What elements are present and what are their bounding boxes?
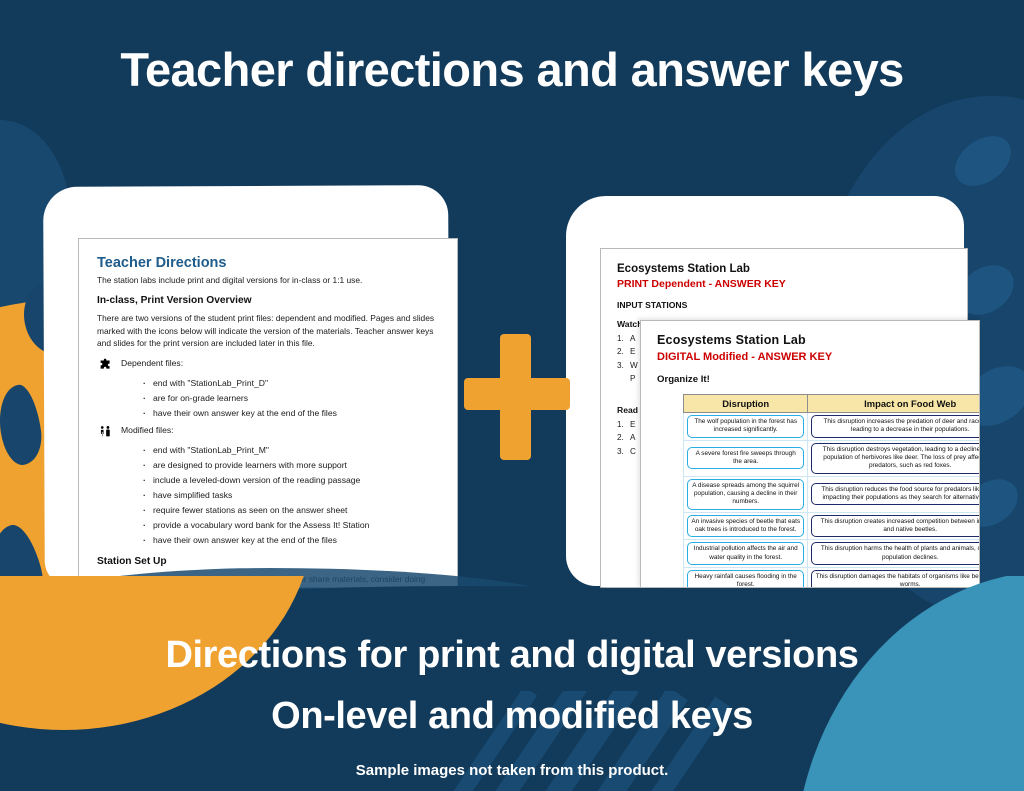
- teacher-directions-document[interactable]: Teacher Directions The station labs incl…: [78, 238, 458, 588]
- table-row: Industrial pollution affects the air and…: [684, 540, 981, 568]
- impact-cell: This disruption destroys vegetation, lea…: [811, 443, 980, 474]
- impact-cell: This disruption reduces the food source …: [811, 483, 980, 506]
- doc-title: Teacher Directions: [97, 255, 441, 271]
- list-item: have their own answer key at the end of …: [143, 533, 441, 548]
- dependent-files-bullets: end with "StationLab_Print_D" are for on…: [143, 376, 441, 421]
- modified-files-bullets: end with "StationLab_Print_M" are design…: [143, 443, 441, 548]
- disruption-cell: An invasive species of beetle that eats …: [687, 515, 804, 538]
- table-header-row: Disruption Impact on Food Web: [684, 395, 981, 413]
- station-set-up-paragraph: If your students are not able to move ar…: [97, 573, 441, 588]
- impact-cell: This disruption harms the health of plan…: [811, 542, 980, 565]
- digital-modified-answer-key-document[interactable]: Ecosystems Station Lab DIGITAL Modified …: [640, 320, 980, 588]
- list-item: end with "StationLab_Print_M": [143, 443, 441, 458]
- modified-files-group: Modified files:: [97, 425, 441, 441]
- table-row: A disease spreads among the squirrel pop…: [684, 476, 981, 512]
- input-stations-heading: INPUT STATIONS: [617, 300, 953, 310]
- disruption-cell: A severe forest fire sweeps through the …: [687, 447, 804, 470]
- list-item: are designed to provide learners with mo…: [143, 458, 441, 473]
- doc-title: Ecosystems Station Lab: [657, 333, 967, 347]
- list-item: are for on-grade learners: [143, 391, 441, 406]
- people-support-icon: [97, 425, 113, 441]
- doc-intro: The station labs include print and digit…: [97, 275, 441, 287]
- column-header-impact: Impact on Food Web: [808, 395, 980, 413]
- print-version-overview-paragraph: There are two versions of the student pr…: [97, 312, 441, 350]
- table-row: An invasive species of beetle that eats …: [684, 512, 981, 540]
- disruption-cell: The wolf population in the forest has in…: [687, 415, 804, 438]
- subtitle-line-1: Directions for print and digital version…: [0, 625, 1024, 686]
- disruption-cell: Heavy rainfall causes flooding in the fo…: [687, 570, 804, 588]
- list-item: have their own answer key at the end of …: [143, 406, 441, 421]
- print-version-overview-heading: In-class, Print Version Overview: [97, 295, 441, 306]
- modified-files-label: Modified files:: [121, 425, 174, 441]
- station-set-up-heading: Station Set Up: [97, 556, 441, 567]
- answer-key-label: DIGITAL Modified - ANSWER KEY: [657, 351, 967, 363]
- list-item: include a leveled-down version of the re…: [143, 473, 441, 488]
- disruption-cell: A disease spreads among the squirrel pop…: [687, 479, 804, 510]
- organize-it-answer-table: Disruption Impact on Food Web The wolf p…: [683, 394, 980, 588]
- disclaimer-text: Sample images not taken from this produc…: [0, 762, 1024, 779]
- impact-cell: This disruption damages the habitats of …: [811, 570, 980, 588]
- doc-title: Ecosystems Station Lab: [617, 263, 953, 275]
- table-row: A severe forest fire sweeps through the …: [684, 440, 981, 476]
- organize-it-heading: Organize It!: [657, 374, 967, 385]
- table-row: Heavy rainfall causes flooding in the fo…: [684, 567, 981, 588]
- dependent-files-group: Dependent files:: [97, 358, 441, 374]
- list-item: have simplified tasks: [143, 488, 441, 503]
- impact-cell: This disruption creates increased compet…: [811, 515, 980, 538]
- page-title: Teacher directions and answer keys: [0, 42, 1024, 97]
- plus-icon: [464, 334, 570, 460]
- table-row: The wolf population in the forest has in…: [684, 413, 981, 441]
- disruption-cell: Industrial pollution affects the air and…: [687, 542, 804, 565]
- subtitle-line-2: On-level and modified keys: [0, 686, 1024, 747]
- list-item: provide a vocabulary word bank for the A…: [143, 518, 441, 533]
- column-header-disruption: Disruption: [684, 395, 808, 413]
- impact-cell: This disruption increases the predation …: [811, 415, 980, 438]
- subtitle-block: Directions for print and digital version…: [0, 625, 1024, 747]
- puzzle-piece-icon: [97, 358, 113, 374]
- list-item: require fewer stations as seen on the an…: [143, 503, 441, 518]
- answer-key-label: PRINT Dependent - ANSWER KEY: [617, 278, 953, 290]
- dependent-files-label: Dependent files:: [121, 358, 183, 374]
- list-item: end with "StationLab_Print_D": [143, 376, 441, 391]
